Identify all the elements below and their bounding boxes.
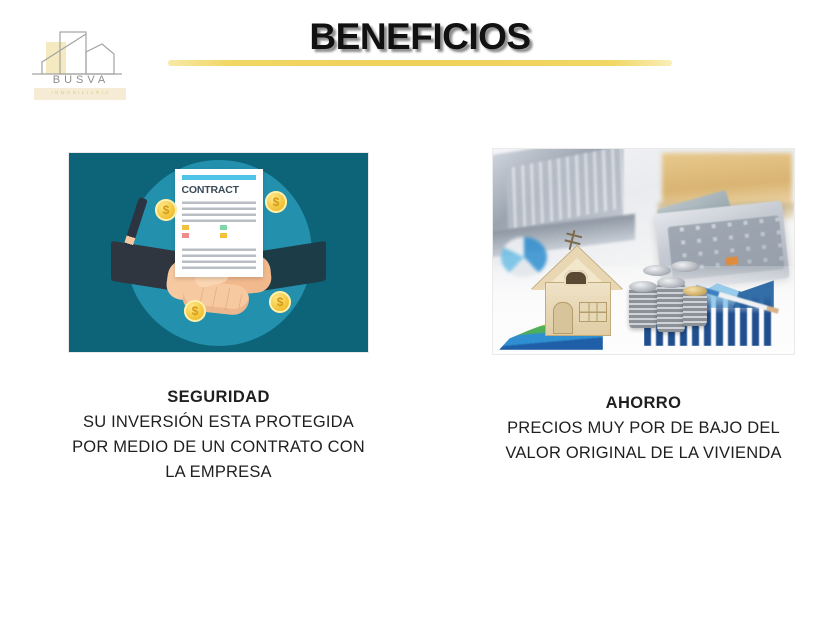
house-door: [553, 302, 573, 334]
dollar-coin-icon: $: [155, 199, 177, 221]
contract-document: CONTRACT: [175, 169, 263, 277]
document-tag-green: [220, 225, 227, 230]
benefit-caption-seguridad: SEGURIDAD SU INVERSIÓN ESTA PROTEGIDA PO…: [68, 385, 369, 485]
document-title: CONTRACT: [182, 184, 256, 196]
calculator-accent-key: [726, 256, 739, 265]
handshake-contract-illustration: CONTRACT $ $ $ $: [68, 152, 369, 353]
benefit-caption-ahorro: AHORRO PRECIOS MUY POR DE BAJO DEL VALOR…: [492, 391, 795, 466]
document-tag-yellow: [182, 225, 189, 230]
document-text-lines-2: [182, 247, 256, 269]
dollar-coin-icon: $: [184, 300, 206, 322]
title-underline-rule: [168, 60, 672, 66]
coin-stack: [657, 282, 685, 332]
dollar-coin-icon: $: [265, 191, 287, 213]
coin-top: [683, 286, 707, 296]
benefit-heading: SEGURIDAD: [68, 385, 369, 410]
page-title: BENEFICIOS: [0, 16, 840, 58]
house-window: [579, 302, 607, 322]
document-tag-pink: [182, 233, 189, 238]
coin-top: [671, 261, 699, 272]
coin-top: [629, 281, 657, 292]
coin-top: [643, 265, 671, 276]
benefit-heading: AHORRO: [492, 391, 795, 416]
benefit-body: PRECIOS MUY POR DE BAJO DEL VALOR ORIGIN…: [492, 416, 795, 466]
house-gable-window: [564, 270, 588, 286]
coin-stack: [629, 286, 657, 328]
document-header-bar: [182, 175, 256, 180]
dollar-coin-icon: $: [269, 291, 291, 313]
logo-tagline: INMOBILIARIA: [22, 90, 140, 95]
document-tag-yellow-2: [220, 233, 227, 238]
wooden-model-house: [531, 232, 623, 336]
flat-illustration: CONTRACT $ $ $ $: [69, 153, 368, 352]
benefit-body: SU INVERSIÓN ESTA PROTEGIDA POR MEDIO DE…: [68, 410, 369, 485]
document-text-lines: [182, 198, 256, 222]
document-checkbox-group: [182, 225, 256, 243]
photo-scene: [493, 149, 794, 354]
benefit-card-ahorro: AHORRO PRECIOS MUY POR DE BAJO DEL VALOR…: [492, 148, 795, 466]
logo-wordmark: BUSVA: [22, 74, 140, 86]
benefit-card-seguridad: CONTRACT $ $ $ $ SEGURIDAD SU INVERSIÓN …: [68, 152, 369, 485]
coin-top: [657, 277, 685, 288]
house-model-savings-photo: [492, 148, 795, 355]
